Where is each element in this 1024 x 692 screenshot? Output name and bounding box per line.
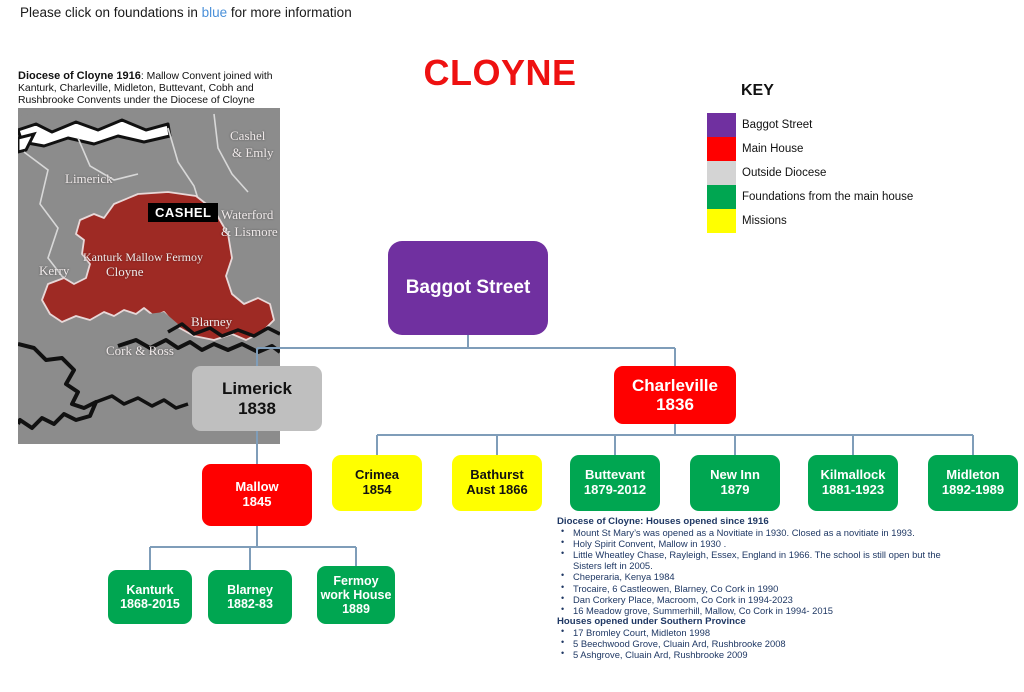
node-crimea-name: Crimea bbox=[332, 468, 422, 483]
node-fermoy[interactable]: Fermoywork House 1889 bbox=[317, 566, 395, 624]
node-baggot[interactable]: Baggot Street bbox=[388, 241, 548, 335]
node-bathurst-text: BathurstAust 1866 bbox=[452, 468, 542, 497]
node-newinn-text: New Inn1879 bbox=[690, 468, 780, 497]
node-buttevant-text: Buttevant1879-2012 bbox=[570, 468, 660, 497]
node-newinn-name: New Inn bbox=[690, 468, 780, 483]
node-kanturk-year: 1868-2015 bbox=[108, 597, 192, 611]
node-buttevant-name: Buttevant bbox=[570, 468, 660, 483]
node-kilmallock-name: Kilmallock bbox=[808, 468, 898, 483]
node-crimea[interactable]: Crimea1854 bbox=[332, 455, 422, 511]
page-canvas: Please click on foundations in blue for … bbox=[0, 0, 1024, 692]
node-bathurst[interactable]: BathurstAust 1866 bbox=[452, 455, 542, 511]
node-mallow-year: 1845 bbox=[202, 495, 312, 510]
node-kilmallock-year: 1881-1923 bbox=[808, 483, 898, 498]
notes-heading-2: Houses opened under Southern Province bbox=[557, 616, 953, 627]
notes-1-item-3: Cheperaria, Kenya 1984 bbox=[553, 571, 953, 582]
node-mallow-text: Mallow1845 bbox=[202, 480, 312, 509]
node-crimea-text: Crimea1854 bbox=[332, 468, 422, 497]
node-charleville-text: Charleville1836 bbox=[614, 376, 736, 414]
node-mallow-name: Mallow bbox=[202, 480, 312, 495]
node-blarney-year: 1882-83 bbox=[208, 597, 292, 611]
node-blarney-name: Blarney bbox=[208, 583, 292, 597]
notes-list-2: 17 Bromley Court, Midleton 19985 Beechwo… bbox=[553, 627, 953, 660]
node-baggot-text: Baggot Street bbox=[388, 277, 548, 298]
node-fermoy-name: Fermoy bbox=[317, 574, 395, 588]
node-baggot-name: Baggot Street bbox=[388, 277, 548, 298]
node-kanturk[interactable]: Kanturk1868-2015 bbox=[108, 570, 192, 624]
notes-1-item-5: Dan Corkery Place, Macroom, Co Cork in 1… bbox=[553, 594, 953, 605]
node-midleton-year: 1892-1989 bbox=[928, 483, 1018, 498]
node-newinn[interactable]: New Inn1879 bbox=[690, 455, 780, 511]
node-buttevant-year: 1879-2012 bbox=[570, 483, 660, 498]
node-kilmallock[interactable]: Kilmallock1881-1923 bbox=[808, 455, 898, 511]
node-midleton-name: Midleton bbox=[928, 468, 1018, 483]
node-charleville-name: Charleville bbox=[614, 376, 736, 395]
node-limerick-name: Limerick bbox=[192, 379, 322, 398]
node-crimea-year: 1854 bbox=[332, 483, 422, 498]
node-bathurst-name: Bathurst bbox=[452, 468, 542, 483]
notes-1-item-4: Trocaire, 6 Castleowen, Blarney, Co Cork… bbox=[553, 583, 953, 594]
node-charleville[interactable]: Charleville1836 bbox=[614, 366, 736, 424]
node-limerick-text: Limerick1838 bbox=[192, 379, 322, 417]
node-buttevant[interactable]: Buttevant1879-2012 bbox=[570, 455, 660, 511]
node-newinn-year: 1879 bbox=[690, 483, 780, 498]
notes-heading-1: Diocese of Cloyne: Houses opened since 1… bbox=[557, 516, 953, 527]
node-charleville-year: 1836 bbox=[614, 395, 736, 414]
node-midleton[interactable]: Midleton1892-1989 bbox=[928, 455, 1018, 511]
notes-2-item-0: 17 Bromley Court, Midleton 1998 bbox=[553, 627, 953, 638]
node-fermoy-text: Fermoywork House 1889 bbox=[317, 574, 395, 616]
notes-1-item-2: Little Wheatley Chase, Rayleigh, Essex, … bbox=[553, 549, 953, 571]
node-kanturk-name: Kanturk bbox=[108, 583, 192, 597]
node-bathurst-year: Aust 1866 bbox=[452, 483, 542, 498]
node-kilmallock-text: Kilmallock1881-1923 bbox=[808, 468, 898, 497]
notes-panel: Diocese of Cloyne: Houses opened since 1… bbox=[553, 516, 953, 660]
node-limerick-year: 1838 bbox=[192, 399, 322, 418]
node-blarney[interactable]: Blarney1882-83 bbox=[208, 570, 292, 624]
node-limerick[interactable]: Limerick1838 bbox=[192, 366, 322, 431]
node-fermoy-year: work House 1889 bbox=[317, 588, 395, 616]
node-kanturk-text: Kanturk1868-2015 bbox=[108, 583, 192, 611]
node-midleton-text: Midleton1892-1989 bbox=[928, 468, 1018, 497]
notes-list-1: Mount St Mary’s was opened as a Novitiat… bbox=[553, 527, 953, 616]
notes-2-item-2: 5 Ashgrove, Cluain Ard, Rushbrooke 2009 bbox=[553, 649, 953, 660]
notes-2-item-1: 5 Beechwood Grove, Cluain Ard, Rushbrook… bbox=[553, 638, 953, 649]
notes-1-item-0: Mount St Mary’s was opened as a Novitiat… bbox=[553, 527, 953, 538]
notes-1-item-6: 16 Meadow grove, Summerhill, Mallow, Co … bbox=[553, 605, 953, 616]
node-mallow[interactable]: Mallow1845 bbox=[202, 464, 312, 526]
notes-1-item-1: Holy Spirit Convent, Mallow in 1930 . bbox=[553, 538, 953, 549]
node-blarney-text: Blarney1882-83 bbox=[208, 583, 292, 611]
